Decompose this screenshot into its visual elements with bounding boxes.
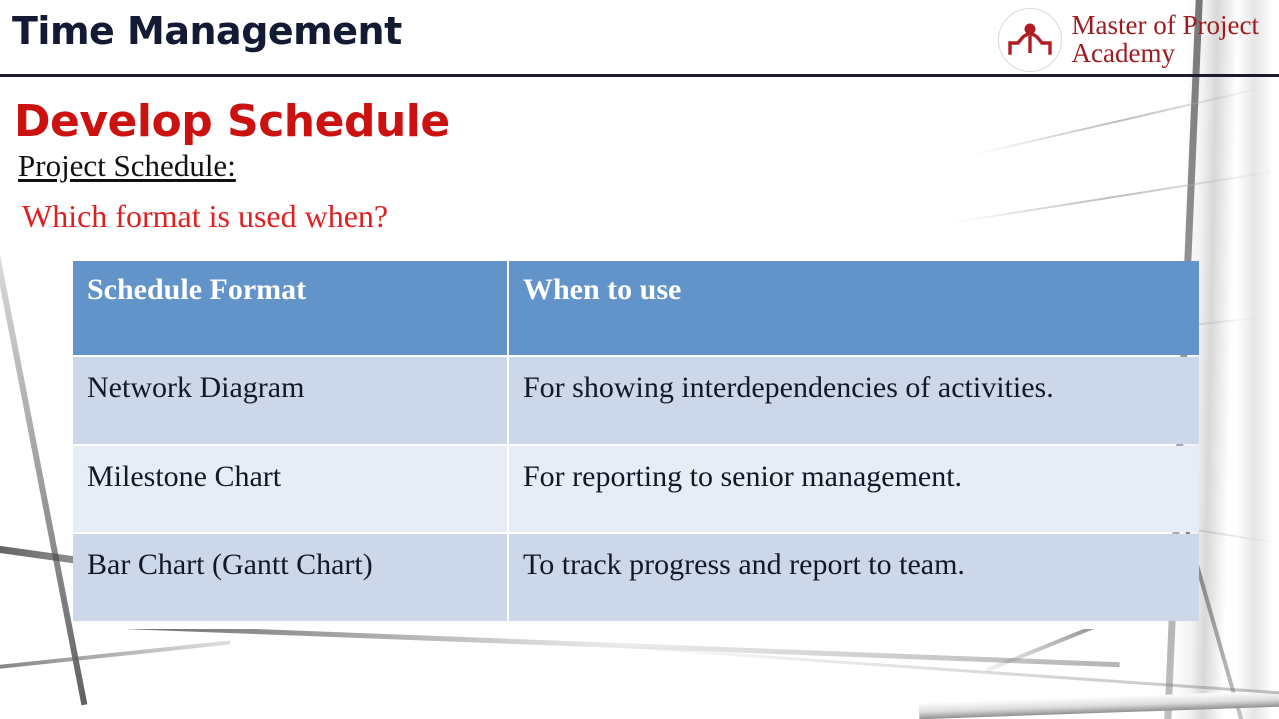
brand-logo: Master of Project Academy	[998, 8, 1259, 72]
table-header-row: Schedule Format When to use	[73, 261, 1199, 355]
column-header-when-to-use: When to use	[509, 261, 1199, 355]
slide: Time Management Master of Project Academ…	[0, 0, 1279, 719]
schedule-format-table: Schedule Format When to use Network Diag…	[71, 259, 1201, 623]
brand-logo-text: Master of Project Academy	[1072, 12, 1259, 67]
cell-when-to-use: For showing interdependencies of activit…	[509, 357, 1199, 444]
page-title: Develop Schedule	[14, 96, 450, 147]
academy-person-circle-icon	[998, 8, 1062, 72]
table-row: Bar Chart (Gantt Chart) To track progres…	[73, 534, 1199, 621]
section-subtitle: Project Schedule:	[18, 148, 236, 184]
header-title: Time Management	[12, 9, 402, 53]
brand-logo-line-1: Master of Project	[1072, 10, 1259, 40]
column-header-schedule-format: Schedule Format	[73, 261, 507, 355]
cell-schedule-format: Milestone Chart	[73, 446, 507, 533]
cell-when-to-use: For reporting to senior management.	[509, 446, 1199, 533]
background-photo-bottom	[60, 629, 1279, 719]
brand-logo-line-2: Academy	[1072, 40, 1259, 68]
section-question: Which format is used when?	[22, 198, 388, 235]
table-row: Milestone Chart For reporting to senior …	[73, 446, 1199, 533]
cell-schedule-format: Network Diagram	[73, 357, 507, 444]
slide-header: Time Management Master of Project Academ…	[0, 0, 1279, 77]
cell-schedule-format: Bar Chart (Gantt Chart)	[73, 534, 507, 621]
cell-when-to-use: To track progress and report to team.	[509, 534, 1199, 621]
table-row: Network Diagram For showing interdepende…	[73, 357, 1199, 444]
